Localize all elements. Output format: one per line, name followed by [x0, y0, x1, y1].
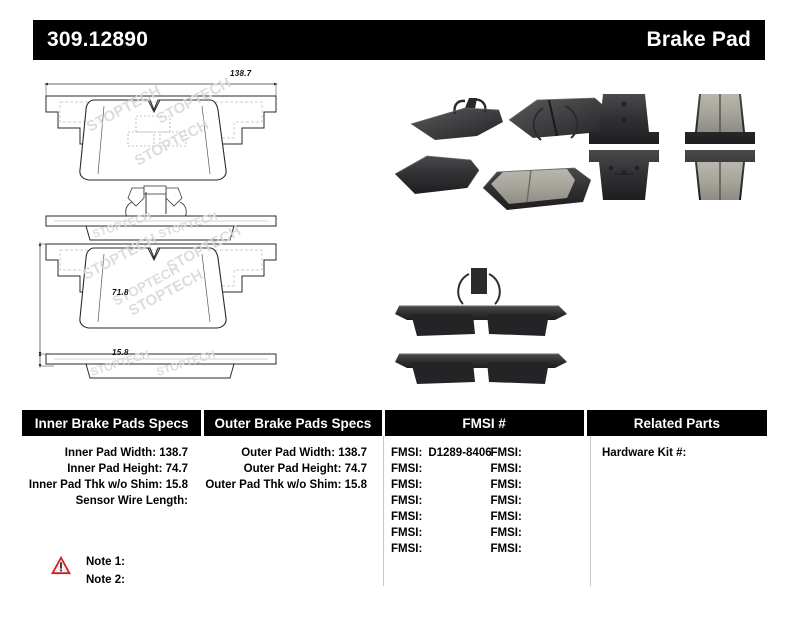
dimension-thickness-label: 15.8	[112, 348, 129, 357]
fmsi-label: FMSI:	[391, 447, 422, 459]
fmsi-subcolumn-left: FMSI:D1289-8406 FMSI: FMSI: FMSI: FMSI: …	[391, 445, 491, 586]
technical-drawings-panel: STOPTECH	[20, 66, 390, 386]
fmsi-row: FMSI:	[491, 509, 591, 525]
warning-triangle-icon	[50, 555, 72, 575]
inner-spec-row: Inner Pad Thk w/o Shim: 15.8	[22, 477, 188, 493]
fmsi-row: FMSI:	[391, 477, 491, 493]
fmsi-label: FMSI:	[491, 447, 522, 459]
fmsi-label: FMSI:	[391, 543, 422, 555]
product-photos-panel	[385, 66, 785, 386]
column-header-outer-specs: Outer Brake Pads Specs	[204, 410, 381, 436]
outer-spec-row: Outer Pad Height: 74.7	[202, 461, 367, 477]
fmsi-value: D1289-8406	[428, 447, 491, 459]
fmsi-subcolumn-right: FMSI: FMSI: FMSI: FMSI: FMSI: FMSI: FMSI…	[491, 445, 591, 586]
column-header-related-parts: Related Parts	[587, 410, 767, 436]
fmsi-label: FMSI:	[491, 543, 522, 555]
fmsi-label: FMSI:	[491, 527, 522, 539]
fmsi-label: FMSI:	[391, 479, 422, 491]
column-divider-fmsi	[383, 436, 384, 586]
fmsi-row: FMSI:	[391, 461, 491, 477]
outer-spec-row: Outer Pad Thk w/o Shim: 15.8	[202, 477, 367, 493]
fmsi-label: FMSI:	[391, 463, 422, 475]
inner-spec-row: Inner Pad Width: 138.7	[22, 445, 188, 461]
fmsi-label: FMSI:	[491, 463, 522, 475]
notes-section: Note 1: Note 2:	[50, 553, 125, 589]
specifications-table: Inner Brake Pads Specs Outer Brake Pads …	[22, 410, 767, 586]
fmsi-column: FMSI:D1289-8406 FMSI: FMSI: FMSI: FMSI: …	[383, 436, 590, 586]
inner-spec-row: Inner Pad Height: 74.7	[22, 461, 188, 477]
inner-spec-row: Sensor Wire Length:	[22, 493, 188, 509]
fmsi-row: FMSI:	[391, 525, 491, 541]
fmsi-row: FMSI:	[391, 493, 491, 509]
outer-specs-column: Outer Pad Width: 138.7 Outer Pad Height:…	[202, 436, 383, 586]
fmsi-label: FMSI:	[391, 511, 422, 523]
brake-pad-line-drawings: STOPTECH	[20, 66, 390, 386]
dimension-height-label: 71.8	[112, 288, 129, 297]
table-body: Inner Pad Width: 138.7 Inner Pad Height:…	[22, 436, 767, 586]
product-type: Brake Pad	[646, 28, 751, 52]
photo-flat-pad-pairs	[589, 94, 755, 200]
fmsi-row: FMSI:	[491, 461, 591, 477]
related-parts-column: Hardware Kit #:	[590, 436, 767, 586]
fmsi-label: FMSI:	[491, 495, 522, 507]
dimension-width-label: 138.7	[230, 69, 252, 78]
fmsi-label: FMSI:	[391, 495, 422, 507]
fmsi-row: FMSI:	[491, 525, 591, 541]
photo-edge-stacked-views	[395, 268, 567, 384]
fmsi-label: FMSI:	[391, 527, 422, 539]
brake-pad-photographs	[385, 66, 785, 386]
column-header-fmsi: FMSI #	[385, 410, 584, 436]
fmsi-row: FMSI:	[491, 477, 591, 493]
fmsi-row: FMSI:D1289-8406	[391, 445, 491, 461]
column-header-inner-specs: Inner Brake Pads Specs	[22, 410, 201, 436]
table-header-row: Inner Brake Pads Specs Outer Brake Pads …	[22, 410, 767, 436]
fmsi-label: FMSI:	[491, 511, 522, 523]
drawing-edge-view-bottom	[40, 349, 276, 379]
fmsi-row: FMSI:	[491, 541, 591, 557]
drawing-top-view	[46, 74, 276, 206]
column-divider-related	[590, 436, 591, 586]
drawing-front-view	[40, 222, 276, 354]
fmsi-row: FMSI:	[491, 493, 591, 509]
fmsi-row: FMSI:	[491, 445, 591, 461]
fmsi-row: FMSI:	[391, 509, 491, 525]
fmsi-row: FMSI:	[391, 541, 491, 557]
part-number: 309.12890	[47, 28, 148, 52]
outer-spec-row: Outer Pad Width: 138.7	[202, 445, 367, 461]
header-bar: 309.12890 Brake Pad	[33, 20, 765, 60]
photo-angled-pad-group	[395, 98, 611, 210]
note-lines: Note 1: Note 2:	[86, 553, 125, 589]
note-1: Note 1:	[86, 553, 125, 571]
related-part-row: Hardware Kit #:	[602, 445, 767, 461]
fmsi-label: FMSI:	[491, 479, 522, 491]
note-2: Note 2:	[86, 571, 125, 589]
